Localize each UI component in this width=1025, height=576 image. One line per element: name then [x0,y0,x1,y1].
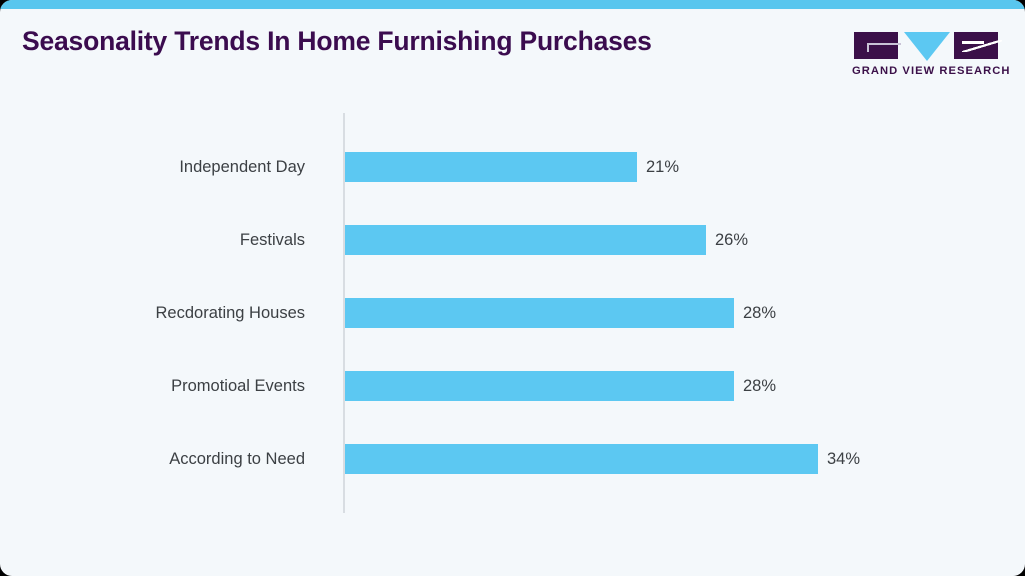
bar-category-label: Festivals [240,225,305,255]
bar-row: According to Need34% [0,444,1025,474]
bar-4[interactable] [345,371,734,401]
bar-category-label: According to Need [169,444,305,474]
bar-5[interactable] [345,444,818,474]
bar-value-label: 28% [743,298,776,328]
bar-category-label: Independent Day [179,152,305,182]
bar-value-label: 28% [743,371,776,401]
bar-category-label: Promotioal Events [171,371,305,401]
bar-chart-plot: Independent Day21%Festivals26%Recdoratin… [0,0,1025,576]
bar-1[interactable] [345,152,637,182]
bar-value-label: 34% [827,444,860,474]
bar-row: Recdorating Houses28% [0,298,1025,328]
bar-row: Independent Day21% [0,152,1025,182]
chart-card: Seasonality Trends In Home Furnishing Pu… [0,0,1025,576]
bar-2[interactable] [345,225,706,255]
bar-3[interactable] [345,298,734,328]
bar-value-label: 21% [646,152,679,182]
bar-category-label: Recdorating Houses [156,298,306,328]
bar-value-label: 26% [715,225,748,255]
bar-row: Festivals26% [0,225,1025,255]
bar-row: Promotioal Events28% [0,371,1025,401]
